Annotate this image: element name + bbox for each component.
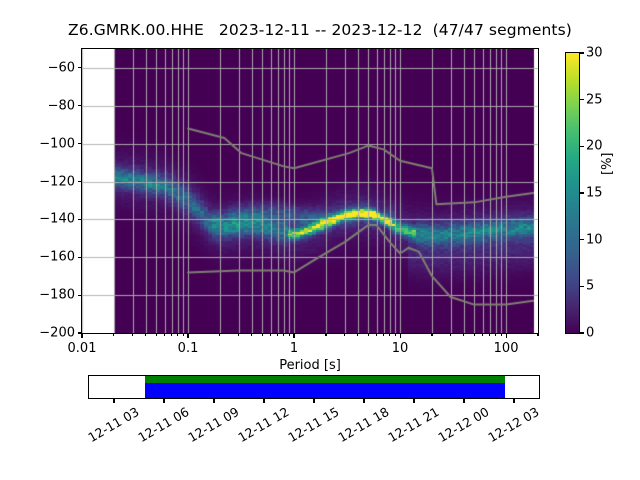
y-tick-mark (78, 67, 83, 68)
timeline-tick-label: 12-11 21 (385, 404, 441, 445)
x-tick-mark-minor (325, 333, 326, 336)
x-tick-mark-minor (219, 333, 220, 336)
y-tick-label: −120 (39, 174, 75, 189)
x-tick-mark-minor (270, 333, 271, 336)
x-tick-mark-minor (450, 333, 451, 336)
colorbar-tick-label: 10 (586, 232, 603, 247)
x-tick-mark-minor (489, 333, 490, 336)
colorbar-tick-mark (579, 146, 584, 147)
y-tick-label: −200 (39, 326, 75, 341)
coverage-segment (145, 376, 505, 398)
y-tick-label: −60 (48, 60, 75, 75)
colorbar-tick-label: 25 (586, 92, 603, 107)
y-tick-label: −180 (39, 288, 75, 303)
colorbar-tick-mark (579, 239, 584, 240)
timeline-tick-label: 12-11 15 (285, 404, 341, 445)
y-tick-mark (78, 105, 83, 106)
colorbar-tick-label: 0 (586, 326, 594, 341)
data-coverage-timeline: 12-11 0312-11 0612-11 0912-11 1212-11 15… (88, 375, 540, 399)
timeline-tick-label: 12-11 09 (185, 404, 241, 445)
x-tick-mark-minor (482, 333, 483, 336)
y-tick-mark (78, 219, 83, 220)
timeline-tick-mark (163, 398, 164, 403)
x-tick-mark-minor (145, 333, 146, 336)
x-tick-mark-minor (389, 333, 390, 336)
coverage-bar-blue (145, 383, 505, 398)
x-tick-mark-minor (177, 333, 178, 336)
y-tick-mark (78, 181, 83, 182)
x-tick-mark-minor (474, 333, 475, 336)
x-tick-mark-major (506, 333, 507, 338)
x-tick-label: 1 (290, 341, 298, 356)
timeline-tick-label: 12-11 12 (235, 404, 291, 445)
x-tick-mark-minor (344, 333, 345, 336)
x-tick-mark-minor (262, 333, 263, 336)
x-tick-label: 0.01 (68, 341, 97, 356)
coverage-bar-green (145, 376, 505, 383)
x-tick-mark-major (293, 333, 294, 338)
x-tick-mark-minor (537, 333, 538, 336)
timeline-tick-mark (363, 398, 364, 403)
x-axis-label: Period [s] (81, 358, 539, 373)
colorbar-tick-mark (579, 52, 584, 53)
timeline-tick-label: 12-12 00 (435, 404, 491, 445)
timeline-tick-mark (513, 398, 514, 403)
x-tick-mark-major (187, 333, 188, 338)
timeline-tick-mark (113, 398, 114, 403)
colorbar-tick-mark (579, 286, 584, 287)
timeline-tick-label: 12-11 03 (85, 404, 141, 445)
x-tick-mark-minor (113, 333, 114, 336)
timeline-tick-mark (463, 398, 464, 403)
colorbar-tick-label: 5 (586, 279, 594, 294)
x-tick-mark-minor (495, 333, 496, 336)
x-tick-mark-minor (238, 333, 239, 336)
colorbar-tick-mark (579, 332, 584, 333)
x-tick-mark-minor (289, 333, 290, 336)
colorbar-tick-label: 15 (586, 186, 603, 201)
y-tick-mark (78, 143, 83, 144)
timeline-tick-mark (313, 398, 314, 403)
x-tick-label: 0.1 (178, 341, 199, 356)
timeline-tick-label: 12-12 03 (485, 404, 541, 445)
x-tick-mark-minor (156, 333, 157, 336)
x-tick-mark-minor (283, 333, 284, 336)
colorbar-label: [%] (600, 153, 615, 176)
colorbar-tick-label: 30 (586, 46, 603, 61)
timeline-tick-mark (263, 398, 264, 403)
x-tick-label: 10 (392, 341, 409, 356)
x-tick-mark-minor (171, 333, 172, 336)
timeline-tick-mark (413, 398, 414, 403)
x-tick-mark-minor (357, 333, 358, 336)
y-tick-label: −140 (39, 212, 75, 227)
x-tick-mark-minor (376, 333, 377, 336)
x-tick-mark-major (81, 333, 82, 338)
ppsd-axes: −60−80−100−120−140−160−180−200 0.010.111… (81, 48, 539, 334)
x-tick-mark-minor (395, 333, 396, 336)
x-tick-mark-minor (277, 333, 278, 336)
figure-title: Z6.GMRK.00.HHE 2023-12-11 -- 2023-12-12 … (0, 21, 640, 39)
x-tick-mark-minor (132, 333, 133, 336)
x-tick-mark-minor (164, 333, 165, 336)
ppsd-figure: Z6.GMRK.00.HHE 2023-12-11 -- 2023-12-12 … (0, 0, 640, 480)
timeline-tick-label: 12-11 06 (135, 404, 191, 445)
x-tick-mark-minor (463, 333, 464, 336)
timeline-tick-mark (213, 398, 214, 403)
x-tick-mark-major (400, 333, 401, 338)
x-tick-mark-minor (368, 333, 369, 336)
colorbar-tick-mark (579, 99, 584, 100)
colorbar: 051015202530 (565, 52, 580, 334)
y-tick-label: −160 (39, 250, 75, 265)
x-tick-mark-minor (183, 333, 184, 336)
timeline-tick-label: 12-11 18 (335, 404, 391, 445)
y-tick-label: −80 (48, 98, 75, 113)
x-tick-label: 100 (494, 341, 519, 356)
x-tick-mark-minor (383, 333, 384, 336)
x-tick-mark-minor (431, 333, 432, 336)
colorbar-tick-mark (579, 192, 584, 193)
x-tick-mark-minor (251, 333, 252, 336)
x-tick-mark-minor (501, 333, 502, 336)
y-tick-mark (78, 257, 83, 258)
y-tick-mark (78, 295, 83, 296)
y-tick-label: −100 (39, 136, 75, 151)
ppsd-histogram (82, 49, 538, 333)
